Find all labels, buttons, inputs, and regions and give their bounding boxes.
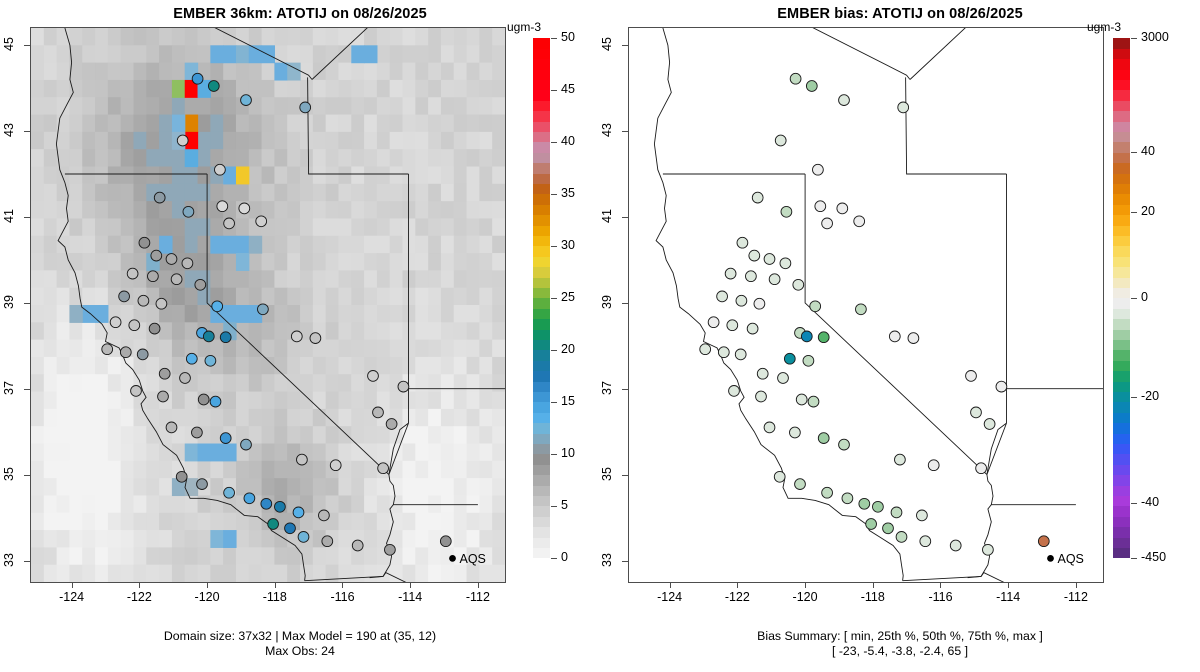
y-tick-label: 41: [600, 207, 614, 225]
colorbar-segment: [1113, 184, 1130, 195]
y-tick-label: 37: [2, 379, 16, 397]
colorbar-segment: [533, 350, 550, 361]
colorbar-segment: [533, 246, 550, 257]
colorbar-tick-label: 50: [561, 30, 575, 44]
bias-map-canvas: AQS: [629, 28, 1103, 582]
svg-text:AQS: AQS: [1058, 552, 1084, 566]
colorbar-segment: [1113, 236, 1130, 247]
y-tick: [622, 475, 628, 476]
colorbar-tick: [551, 298, 557, 299]
x-tick-label: -114: [392, 590, 428, 604]
colorbar-segment: [1113, 392, 1130, 403]
y-tick-label: 43: [600, 121, 614, 139]
colorbar-segment: [1113, 267, 1130, 278]
colorbar-segment: [1113, 516, 1130, 527]
x-tick-label: -116: [324, 590, 360, 604]
colorbar-tick-label: 20: [1141, 204, 1155, 218]
colorbar-segment: [533, 308, 550, 319]
colorbar-segment: [1113, 527, 1130, 538]
colorbar-segment: [533, 80, 550, 91]
svg-text:AQS: AQS: [460, 552, 486, 566]
colorbar-segment: [533, 506, 550, 517]
model-caption-line2: Max Obs: 24: [0, 644, 600, 659]
colorbar-segment: [1113, 329, 1130, 340]
y-tick-label: 35: [600, 465, 614, 483]
y-tick-label: 37: [600, 379, 614, 397]
colorbar-segment: [533, 329, 550, 340]
panel-bias: EMBER bias: ATOTIJ on 08/26/2025 AQS -12…: [600, 0, 1200, 672]
colorbar-segment: [533, 423, 550, 434]
colorbar-segment: [533, 527, 550, 538]
x-tick: [805, 582, 806, 588]
y-tick-label: 33: [2, 551, 16, 569]
colorbar-segment: [1113, 194, 1130, 205]
colorbar-segment: [1113, 412, 1130, 423]
colorbar-segment: [1113, 506, 1130, 517]
figure-root: EMBER 36km: ATOTIJ on 08/26/2025 AQS -12…: [0, 0, 1200, 672]
x-tick: [342, 582, 343, 588]
colorbar-segment: [1113, 454, 1130, 465]
colorbar-segment: [533, 475, 550, 486]
colorbar-tick: [551, 142, 557, 143]
colorbar-segment: [1113, 225, 1130, 236]
colorbar-segment: [533, 69, 550, 80]
colorbar-segment: [533, 132, 550, 143]
y-tick-label: 45: [600, 35, 614, 53]
colorbar-segment: [533, 225, 550, 236]
x-tick: [1076, 582, 1077, 588]
colorbar-tick-label: 45: [561, 82, 575, 96]
x-tick-label: -112: [1058, 590, 1094, 604]
colorbar-tick: [551, 558, 557, 559]
colorbar-units-label: ugm-3: [1087, 20, 1121, 34]
colorbar-segment: [533, 48, 550, 59]
colorbar-segment: [533, 485, 550, 496]
colorbar-segment: [1113, 319, 1130, 330]
colorbar-segment: [1113, 340, 1130, 351]
colorbar-segment: [1113, 475, 1130, 486]
colorbar-segment: [1113, 152, 1130, 163]
colorbar-segment: [1113, 163, 1130, 174]
colorbar-segment: [533, 204, 550, 215]
x-tick-label: -116: [922, 590, 958, 604]
colorbar-tick: [551, 350, 557, 351]
colorbar-segment: [533, 59, 550, 70]
y-tick-label: 39: [2, 293, 16, 311]
colorbar-segment: [1113, 485, 1130, 496]
colorbar-tick-label: -40: [1141, 495, 1159, 509]
colorbar-segment: [1113, 204, 1130, 215]
colorbar-segment: [1113, 496, 1130, 507]
colorbar-segment: [1113, 464, 1130, 475]
x-tick: [873, 582, 874, 588]
colorbar-segment: [533, 100, 550, 111]
colorbar-segment: [1113, 215, 1130, 226]
x-tick-label: -120: [787, 590, 823, 604]
colorbar-tick-label: 30: [561, 238, 575, 252]
colorbar-tick-label: -20: [1141, 389, 1159, 403]
colorbar-tick-label: 0: [1141, 290, 1148, 304]
colorbar-segment: [1113, 90, 1130, 101]
y-tick: [24, 217, 30, 218]
colorbar-segment: [1113, 444, 1130, 455]
colorbar-segment: [1113, 173, 1130, 184]
y-tick-label: 41: [2, 207, 16, 225]
colorbar-segment: [533, 412, 550, 423]
panel-model: EMBER 36km: ATOTIJ on 08/26/2025 AQS -12…: [0, 0, 600, 672]
bias-caption-line1: Bias Summary: [ min, 25th %, 50th %, 75t…: [600, 629, 1200, 644]
colorbar-segment: [533, 184, 550, 195]
colorbar-tick-label: -450: [1141, 550, 1166, 564]
colorbar-tick: [551, 38, 557, 39]
colorbar-segment: [1113, 288, 1130, 299]
y-tick: [622, 303, 628, 304]
model-caption-line1: Domain size: 37x32 | Max Model = 190 at …: [0, 629, 600, 644]
colorbar-segment: [1113, 277, 1130, 288]
colorbar-segment: [533, 319, 550, 330]
colorbar-segment: [1113, 548, 1130, 559]
colorbar-segment: [533, 194, 550, 205]
aqs-legend-marker: AQS: [1047, 552, 1084, 566]
model-map-canvas: AQS: [31, 28, 505, 582]
colorbar-segment: [1113, 48, 1130, 59]
x-tick-label: -120: [189, 590, 225, 604]
colorbar-segment: [533, 444, 550, 455]
bias-caption-line2: [ -23, -5.4, -3.8, -2.4, 65 ]: [600, 644, 1200, 659]
colorbar-segment: [1113, 298, 1130, 309]
colorbar-tick-label: 25: [561, 290, 575, 304]
colorbar-tick: [1131, 212, 1137, 213]
colorbar-segment: [533, 236, 550, 247]
colorbar-segment: [533, 360, 550, 371]
x-tick-label: -124: [652, 590, 688, 604]
colorbar-tick: [1131, 38, 1137, 39]
x-tick-label: -118: [257, 590, 293, 604]
colorbar-segment: [533, 173, 550, 184]
x-tick-label: -124: [54, 590, 90, 604]
y-tick: [622, 561, 628, 562]
y-tick: [24, 475, 30, 476]
y-tick-label: 39: [600, 293, 614, 311]
colorbar-segment: [533, 256, 550, 267]
y-tick-label: 33: [600, 551, 614, 569]
observation-points: [700, 73, 1049, 555]
y-tick-label: 35: [2, 465, 16, 483]
colorbar-segment: [533, 548, 550, 559]
y-tick: [24, 561, 30, 562]
bias-plot-area[interactable]: AQS: [628, 27, 1104, 583]
colorbar-segment: [1113, 142, 1130, 153]
colorbar-segment: [533, 371, 550, 382]
colorbar-segment: [533, 537, 550, 548]
colorbar-segment: [1113, 433, 1130, 444]
y-tick: [622, 217, 628, 218]
colorbar-segment: [1113, 402, 1130, 413]
colorbar-segment: [533, 496, 550, 507]
colorbar-segment: [1113, 350, 1130, 361]
y-tick: [622, 131, 628, 132]
colorbar-segment: [1113, 246, 1130, 257]
colorbar-segment: [533, 464, 550, 475]
colorbar-tick: [551, 402, 557, 403]
x-tick-label: -122: [719, 590, 755, 604]
colorbar-segment: [533, 392, 550, 403]
colorbar-tick-label: 20: [561, 342, 575, 356]
colorbar-segment: [1113, 308, 1130, 319]
colorbar-strip: [533, 38, 550, 558]
bias-colorbar[interactable]: ugm-3-450-40-20020403000: [1113, 38, 1193, 558]
colorbar-tick: [551, 506, 557, 507]
colorbar-tick: [1131, 558, 1137, 559]
colorbar-segment: [533, 454, 550, 465]
y-tick: [24, 131, 30, 132]
x-tick-label: -114: [990, 590, 1026, 604]
colorbar-tick-label: 5: [561, 498, 568, 512]
colorbar-tick-label: 35: [561, 186, 575, 200]
colorbar-segment: [1113, 121, 1130, 132]
colorbar-segment: [1113, 360, 1130, 371]
colorbar-tick-label: 15: [561, 394, 575, 408]
colorbar-segment: [1113, 371, 1130, 382]
x-tick-label: -112: [460, 590, 496, 604]
y-tick: [622, 389, 628, 390]
colorbar-segment: [1113, 132, 1130, 143]
y-tick-label: 45: [2, 35, 16, 53]
y-tick: [24, 45, 30, 46]
colorbar-tick-label: 0: [561, 550, 568, 564]
colorbar-segment: [533, 163, 550, 174]
colorbar-tick-label: 10: [561, 446, 575, 460]
colorbar-tick: [1131, 152, 1137, 153]
colorbar-segment: [533, 121, 550, 132]
x-tick: [940, 582, 941, 588]
colorbar-tick: [1131, 298, 1137, 299]
colorbar-segment: [533, 90, 550, 101]
colorbar-segment: [533, 277, 550, 288]
colorbar-segment: [1113, 381, 1130, 392]
colorbar-tick: [1131, 397, 1137, 398]
colorbar-tick: [1131, 503, 1137, 504]
colorbar-segment: [533, 402, 550, 413]
colorbar-units-label: ugm-3: [507, 20, 541, 34]
x-tick-label: -122: [121, 590, 157, 604]
colorbar-segment: [533, 298, 550, 309]
colorbar-segment: [1113, 256, 1130, 267]
x-tick: [737, 582, 738, 588]
y-tick: [622, 45, 628, 46]
colorbar-segment: [1113, 111, 1130, 122]
y-tick-label: 43: [2, 121, 16, 139]
colorbar-segment: [533, 433, 550, 444]
x-tick: [139, 582, 140, 588]
colorbar-tick: [551, 90, 557, 91]
x-tick: [478, 582, 479, 588]
colorbar-segment: [533, 38, 550, 49]
colorbar-tick: [551, 194, 557, 195]
colorbar-segment: [533, 142, 550, 153]
colorbar-segment: [1113, 537, 1130, 548]
y-tick: [24, 389, 30, 390]
x-tick: [72, 582, 73, 588]
x-tick: [410, 582, 411, 588]
colorbar-segment: [533, 381, 550, 392]
y-tick: [24, 303, 30, 304]
colorbar-segment: [1113, 59, 1130, 70]
x-tick: [275, 582, 276, 588]
colorbar-segment: [533, 152, 550, 163]
model-plot-area[interactable]: AQS: [30, 27, 506, 583]
colorbar-tick: [551, 246, 557, 247]
colorbar-segment: [533, 516, 550, 527]
colorbar-segment: [533, 288, 550, 299]
x-tick: [1008, 582, 1009, 588]
colorbar-segment: [533, 267, 550, 278]
map-boundaries: [654, 28, 1103, 582]
colorbar-tick: [551, 454, 557, 455]
colorbar-tick-label: 3000: [1141, 30, 1169, 44]
x-tick-label: -118: [855, 590, 891, 604]
colorbar-tick-label: 40: [1141, 144, 1155, 158]
colorbar-strip: [1113, 38, 1130, 558]
colorbar-segment: [533, 340, 550, 351]
x-tick: [207, 582, 208, 588]
colorbar-segment: [1113, 100, 1130, 111]
colorbar-segment: [1113, 80, 1130, 91]
colorbar-segment: [1113, 69, 1130, 80]
colorbar-segment: [533, 215, 550, 226]
colorbar-segment: [1113, 423, 1130, 434]
colorbar-segment: [533, 111, 550, 122]
colorbar-tick-label: 40: [561, 134, 575, 148]
colorbar-segment: [1113, 38, 1130, 49]
x-tick: [670, 582, 671, 588]
